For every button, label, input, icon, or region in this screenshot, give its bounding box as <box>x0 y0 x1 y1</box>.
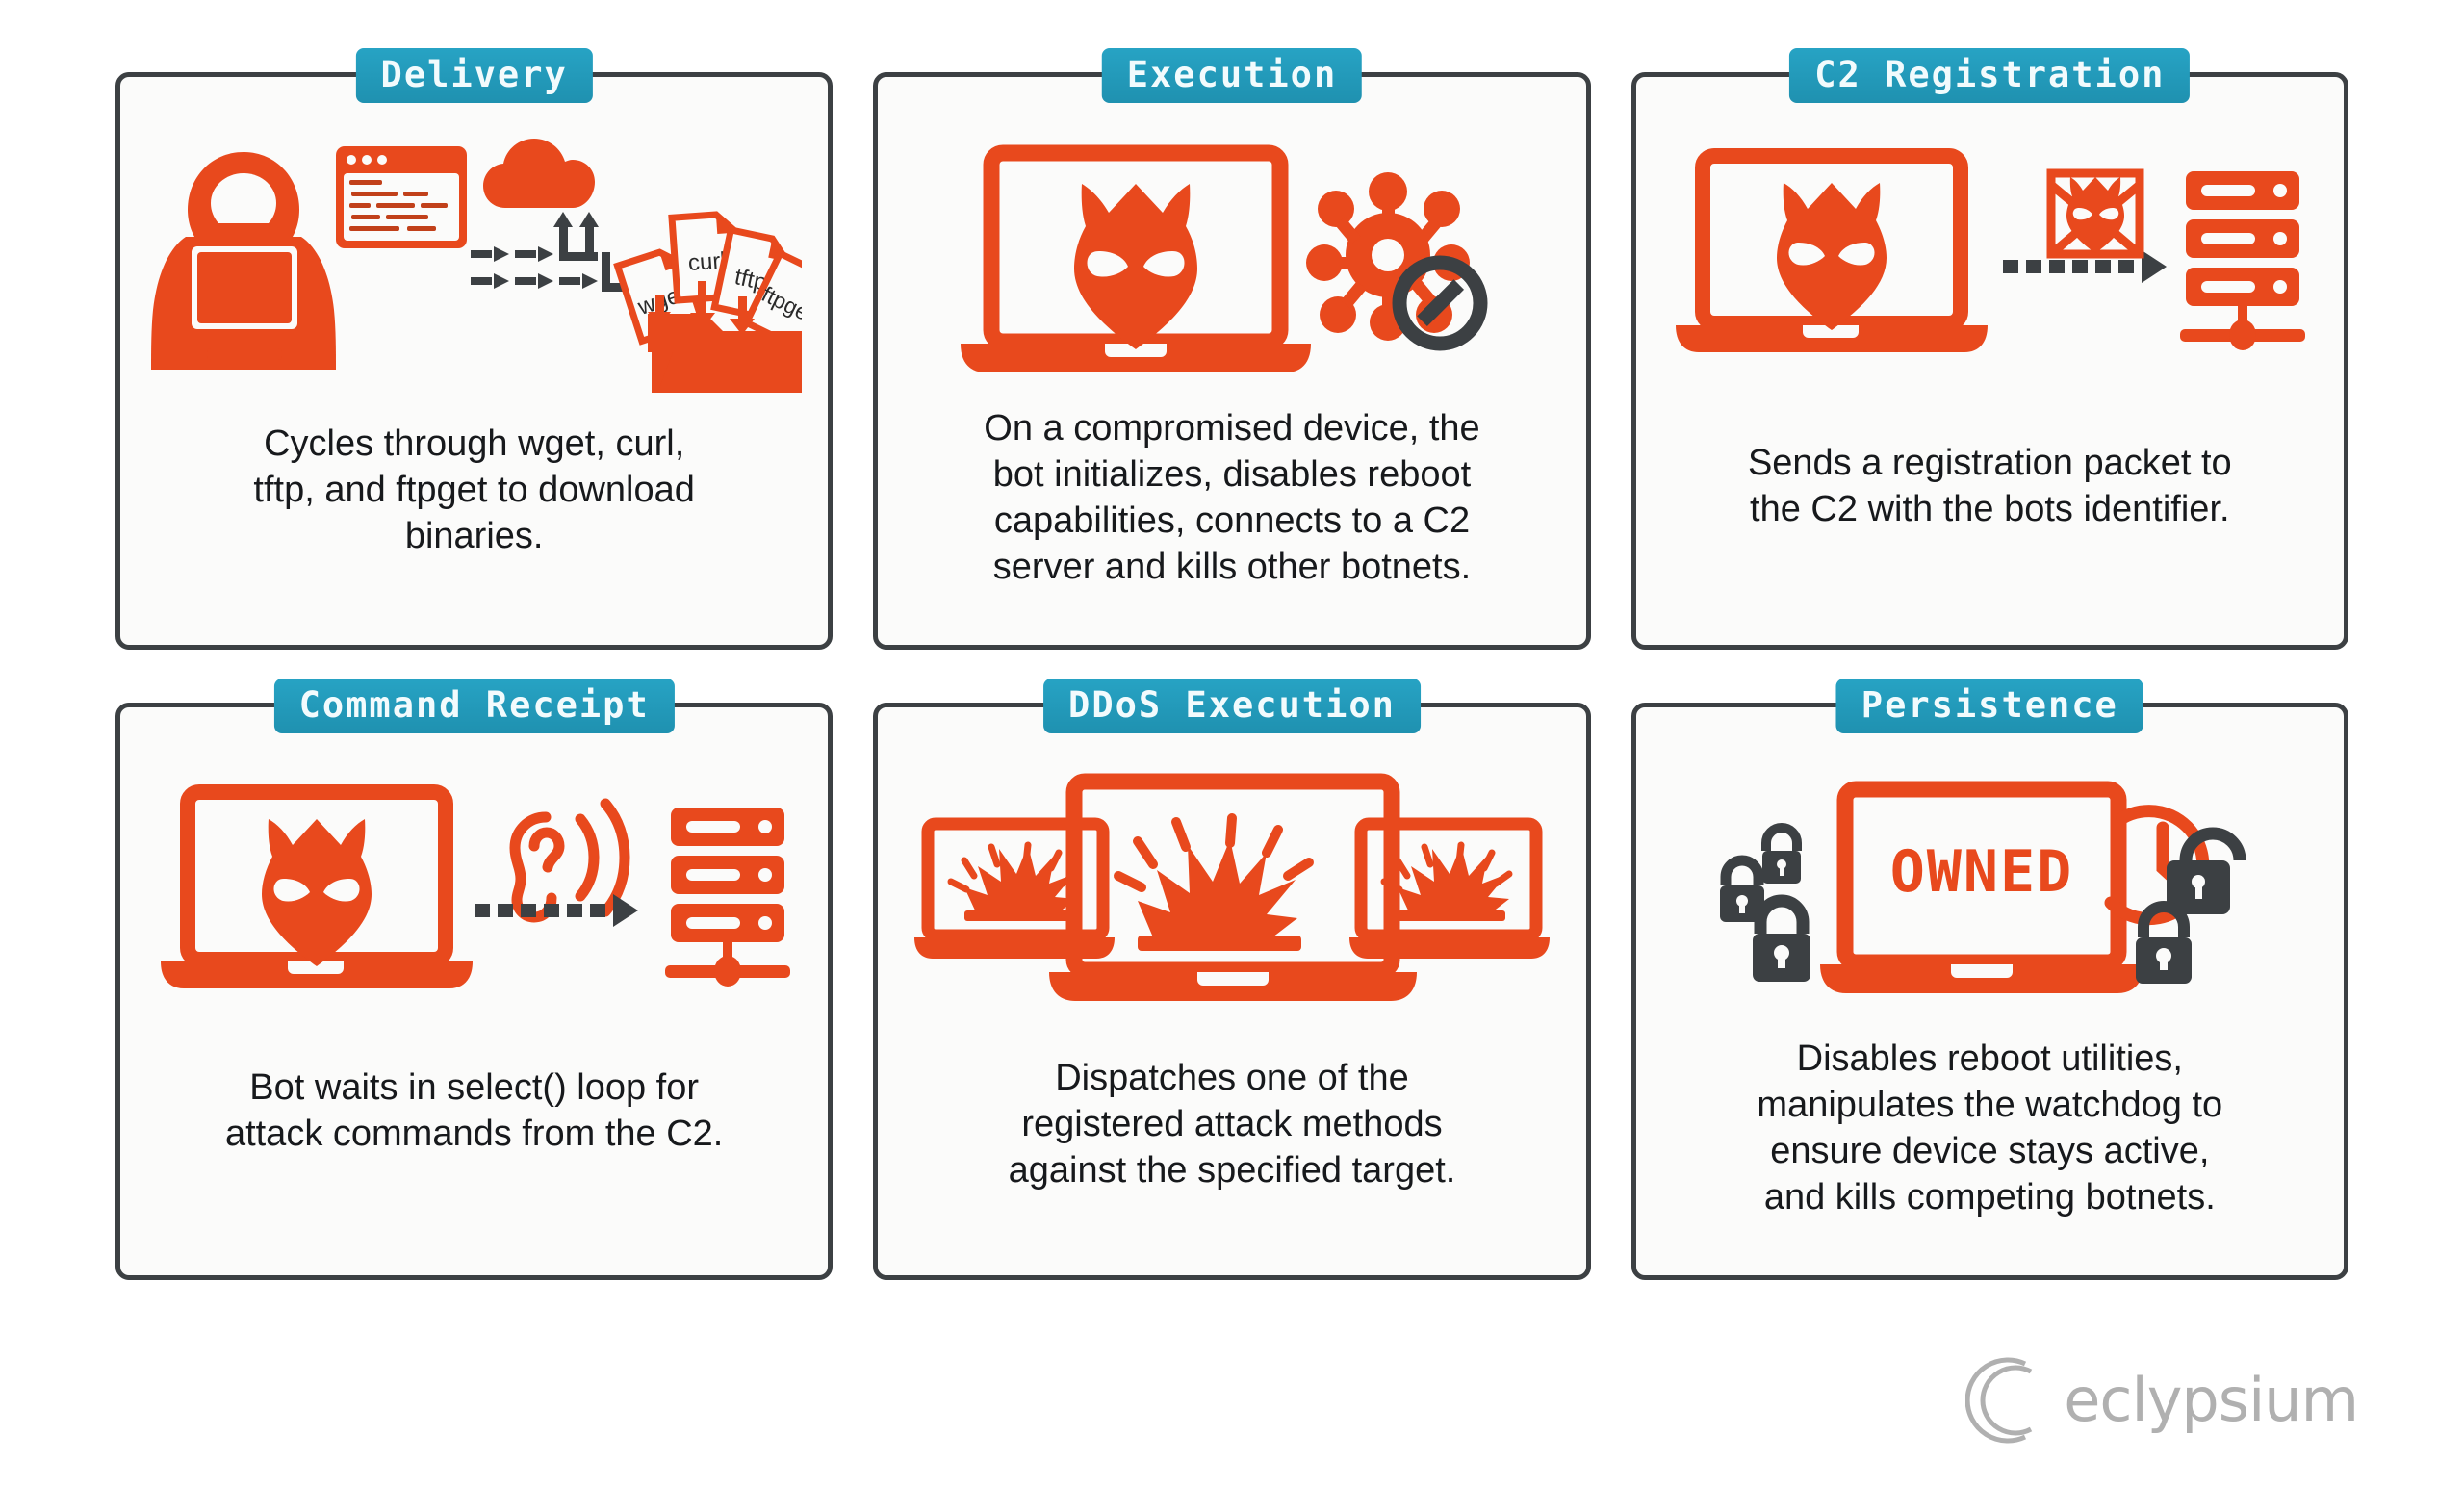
infographic-board: Delivery <box>0 0 2464 1487</box>
arc-mark-icon <box>1965 1354 2058 1447</box>
hacker-icon <box>151 152 336 370</box>
padlock-closed-icon <box>1753 901 1810 982</box>
laptop-malware-icon <box>161 792 473 988</box>
panel-title-command-receipt: Command Receipt <box>274 679 675 733</box>
command-receipt-artwork <box>120 744 828 1033</box>
listening-ear-icon <box>515 804 625 917</box>
panel-grid: Delivery <box>115 72 2348 1280</box>
panel-title-execution: Execution <box>1102 48 1362 103</box>
padlock-closed-icon <box>1762 828 1801 884</box>
panel-persistence: Persistence OWNED <box>1631 703 2348 1280</box>
caption-c2-registration: Sends a registration packet to the C2 wi… <box>1685 402 2294 645</box>
server-icon <box>665 808 790 987</box>
laptop-owned-icon: OWNED <box>1820 789 2143 993</box>
persistence-artwork: OWNED <box>1636 744 2344 1033</box>
caption-persistence: Disables reboot utilities, manipulates t… <box>1685 1033 2294 1275</box>
devil-face-icon <box>1777 183 1886 330</box>
eclypsium-logo: eclypsium <box>1965 1354 2358 1447</box>
explosion-icon <box>1384 845 1509 921</box>
panel-delivery: Delivery <box>115 72 833 650</box>
laptop-malware-icon <box>961 153 1311 372</box>
panel-c2-registration: C2 Registration <box>1631 72 2348 650</box>
explosion-icon <box>951 845 1076 921</box>
execution-artwork <box>878 114 1585 402</box>
panel-title-c2-registration: C2 Registration <box>1789 48 2190 103</box>
cloud-icon <box>483 139 595 208</box>
panel-title-delivery: Delivery <box>356 48 593 103</box>
delivery-artwork: wget curl tftp <box>120 114 828 402</box>
laptop-malware-icon <box>1676 156 1988 352</box>
virus-blocked-icon <box>1306 172 1480 344</box>
caption-delivery: Cycles through wget, curl, tftp, and ftp… <box>169 402 778 645</box>
devil-face-icon <box>262 819 372 966</box>
server-icon <box>2180 171 2305 350</box>
caption-ddos-execution: Dispatches one of the registered attack … <box>928 1033 1536 1275</box>
ddos-execution-artwork <box>878 744 1585 1033</box>
panel-command-receipt: Command Receipt <box>115 703 833 1280</box>
panel-execution: Execution <box>873 72 1590 650</box>
caption-command-receipt: Bot waits in select() loop for attack co… <box>169 1033 778 1275</box>
explosion-icon <box>1118 818 1309 951</box>
laptop-explosion-left-icon <box>914 824 1115 959</box>
panel-title-persistence: Persistence <box>1836 679 2143 733</box>
caption-execution: On a compromised device, the bot initial… <box>928 402 1536 645</box>
c2-registration-artwork <box>1636 114 2344 402</box>
laptop-explosion-right-icon <box>1349 824 1550 959</box>
owned-screen-text: OWNED <box>1890 838 2074 906</box>
devil-face-icon <box>1074 184 1197 349</box>
panel-title-ddos-execution: DDoS Execution <box>1043 679 1421 733</box>
eclypsium-logo-text: eclypsium <box>2064 1371 2358 1430</box>
malicious-envelope-icon <box>2051 173 2140 254</box>
panel-ddos-execution: DDoS Execution <box>873 703 1590 1280</box>
code-window-icon <box>336 146 467 248</box>
